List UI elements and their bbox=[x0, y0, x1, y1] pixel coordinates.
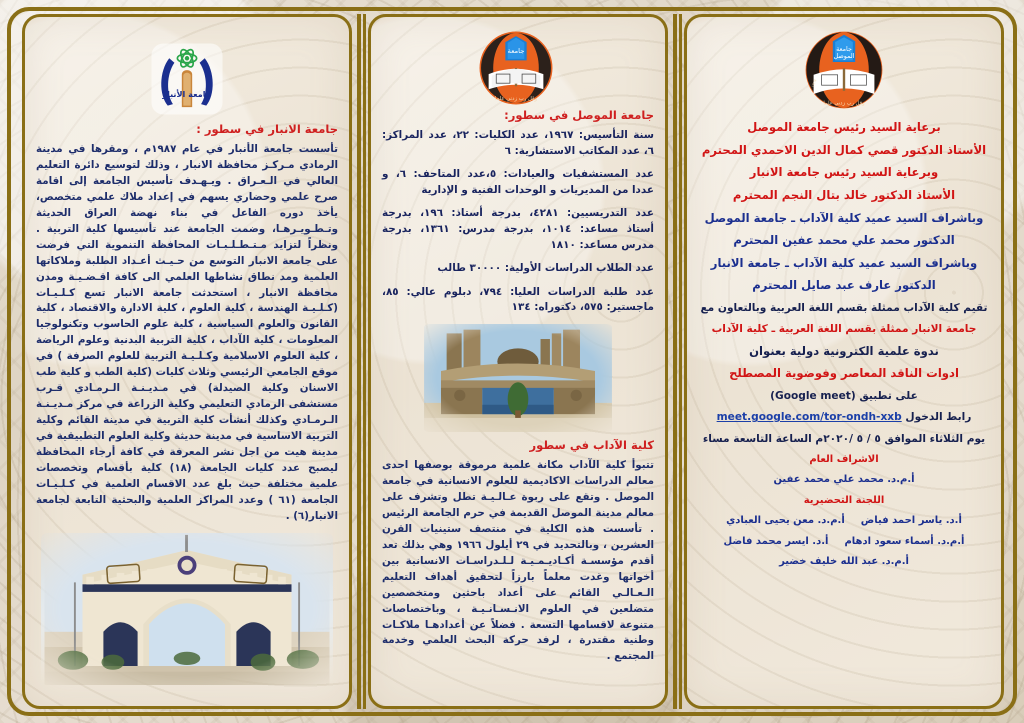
anbar-university-main-gate-photo bbox=[41, 533, 333, 685]
mosul-stat-teaching-staff: عدد التدريسيين: ٤٢٨١، بدرجة أستاذ: ١٩٦، … bbox=[382, 206, 654, 253]
organizer-line-2: جامعة الانبار ممثلة بقسم اللغة العربية ـ… bbox=[698, 322, 990, 336]
committee-member: أ.د. ياسر احمد فياض bbox=[861, 514, 962, 528]
supervision-name-1: الدكتور محمد علي محمد عفين المحترم bbox=[698, 233, 990, 249]
event-kind: ندوة علمية الكترونية دولية بعنوان bbox=[698, 344, 990, 360]
panel-seminar-content: جامعة الموصل وقل رب زدني علما ١٩٦٧ برعاي… bbox=[684, 14, 1004, 709]
panel-seminar-announcement: جامعة الموصل وقل رب زدني علما ١٩٦٧ برعاي… bbox=[684, 14, 1004, 709]
supervision-line-2: وباشراف السيد عميد كلية الآداب ـ جامعة ا… bbox=[698, 256, 990, 272]
svg-text:الموصل: الموصل bbox=[834, 52, 855, 60]
meeting-link-label: رابط الدخول bbox=[905, 411, 971, 423]
patronage-line-2: الأستاذ الدكتور قصي كمال الدين الاحمدي ا… bbox=[698, 143, 990, 159]
meeting-link-url[interactable]: meet.google.com/tor-ondh-xxb bbox=[717, 411, 902, 423]
committee-member: أ.م.د. معن يحيى العبادي bbox=[726, 514, 845, 528]
panel-anbar-content: جامعة الأنبار جامعة الانبار في سطور : تأ… bbox=[22, 14, 352, 709]
event-datetime: يوم الثلاثاء الموافق ٥ / ٥ /٢٠٢٠م الساعة… bbox=[698, 432, 990, 446]
supervision-name-2: الدكتور عارف عبد صايل المحترم bbox=[698, 278, 990, 294]
panel-divider-right-outer bbox=[673, 14, 677, 709]
anbar-description-paragraph: تأسست جامعة الأنبار في عام ١٩٨٧م ، ومقره… bbox=[36, 142, 338, 525]
arts-college-paragraph: تتبوأ كلية الآداب مكانة علمية مرموقة بوص… bbox=[382, 458, 654, 665]
meeting-link-row[interactable]: رابط الدخول meet.google.com/tor-ondh-xxb bbox=[698, 410, 990, 424]
mosul-logo-container-right: جامعة الموصل وقل رب زدني علما ١٩٦٧ bbox=[698, 30, 990, 110]
committee-member: أ.د. ايسر محمد فاضل bbox=[724, 535, 829, 549]
panel-divider-left-inner bbox=[363, 14, 366, 709]
committee-row-1: أ.د. ياسر احمد فياض أ.م.د. معن يحيى العب… bbox=[698, 514, 990, 528]
mosul-logo-container-middle: جامعة وقل رب زدني علما bbox=[382, 30, 654, 102]
brochure-page: جامعة الأنبار جامعة الانبار في سطور : تأ… bbox=[0, 0, 1024, 723]
mosul-section-heading: جامعة الموصل في سطور: bbox=[382, 108, 654, 123]
supervision-line-1: وباشراف السيد عميد كلية الآداب ـ جامعة ا… bbox=[698, 211, 990, 227]
mosul-stat-postgraduates: عدد طلبة الدراسات العليا: ٧٩٤، دبلوم عال… bbox=[382, 285, 654, 316]
event-title: ادوات الناقد المعاصر وفوضوية المصطلح bbox=[698, 366, 990, 382]
university-of-anbar-logo: جامعة الأنبار bbox=[150, 42, 224, 116]
university-of-mosul-logo: جامعة وقل رب زدني علما bbox=[482, 30, 554, 102]
arts-college-heading: كلية الآداب في سطور bbox=[382, 438, 654, 453]
panel-divider-left-outer bbox=[357, 14, 361, 709]
committee-member: أ.م.د. أسماء سعود ادهام bbox=[844, 535, 964, 549]
committee-row-3: أ.م.د. عبد الله خليف خضير bbox=[698, 555, 990, 569]
panel-mosul-university: جامعة وقل رب زدني علما جامعة الموصل في س… bbox=[368, 14, 668, 709]
committee-heading: اللجنة التحضيرية bbox=[698, 494, 990, 508]
anbar-section-heading: جامعة الانبار في سطور : bbox=[36, 122, 338, 137]
svg-text:وقل رب زدني علما: وقل رب زدني علما bbox=[823, 100, 865, 106]
mosul-stat-undergraduates: عدد الطلاب الدراسات الأولية: ٣٠٠٠٠ طالب bbox=[382, 261, 654, 277]
panel-divider-right-inner bbox=[679, 14, 682, 709]
mosul-stat-hospitals: عدد المستشفيات والعيادات: ٥،عدد المتاحف:… bbox=[382, 167, 654, 198]
patronage-line-4: الأستاذ الدكتور خالد بتال النجم المحترم bbox=[698, 188, 990, 204]
mosul-university-gate-photo bbox=[423, 324, 613, 432]
platform-label: على تطبيق (Google meet) bbox=[698, 389, 990, 403]
panel-anbar-university: جامعة الأنبار جامعة الانبار في سطور : تأ… bbox=[22, 14, 352, 709]
svg-text:جامعة: جامعة bbox=[508, 47, 525, 55]
panel-mosul-content: جامعة وقل رب زدني علما جامعة الموصل في س… bbox=[368, 14, 668, 709]
committee-row-2: أ.م.د. أسماء سعود ادهام أ.د. ايسر محمد ف… bbox=[698, 535, 990, 549]
anbar-logo-container: جامعة الأنبار bbox=[36, 42, 338, 116]
organizer-line-1: تقيم كلية الآداب ممثلة بقسم اللغة العربي… bbox=[698, 301, 990, 315]
patronage-line-1: برعاية السيد رئيس جامعة الموصل bbox=[698, 120, 990, 136]
general-supervision-heading: الاشراف العام bbox=[698, 453, 990, 467]
university-of-mosul-logo: جامعة الموصل وقل رب زدني علما ١٩٦٧ bbox=[804, 30, 884, 110]
svg-text:وقل رب زدني علما: وقل رب زدني علما bbox=[495, 96, 538, 102]
svg-text:جامعة الأنبار: جامعة الأنبار bbox=[161, 89, 211, 100]
mosul-stat-foundation: سنة التأسيس: ١٩٦٧، عدد الكليات: ٢٢، عدد … bbox=[382, 128, 654, 159]
patronage-line-3: وبرعاية السيد رئيس جامعة الانبار bbox=[698, 165, 990, 181]
general-supervision-name: أ.م.د. محمد علي محمد عفين bbox=[698, 473, 990, 487]
